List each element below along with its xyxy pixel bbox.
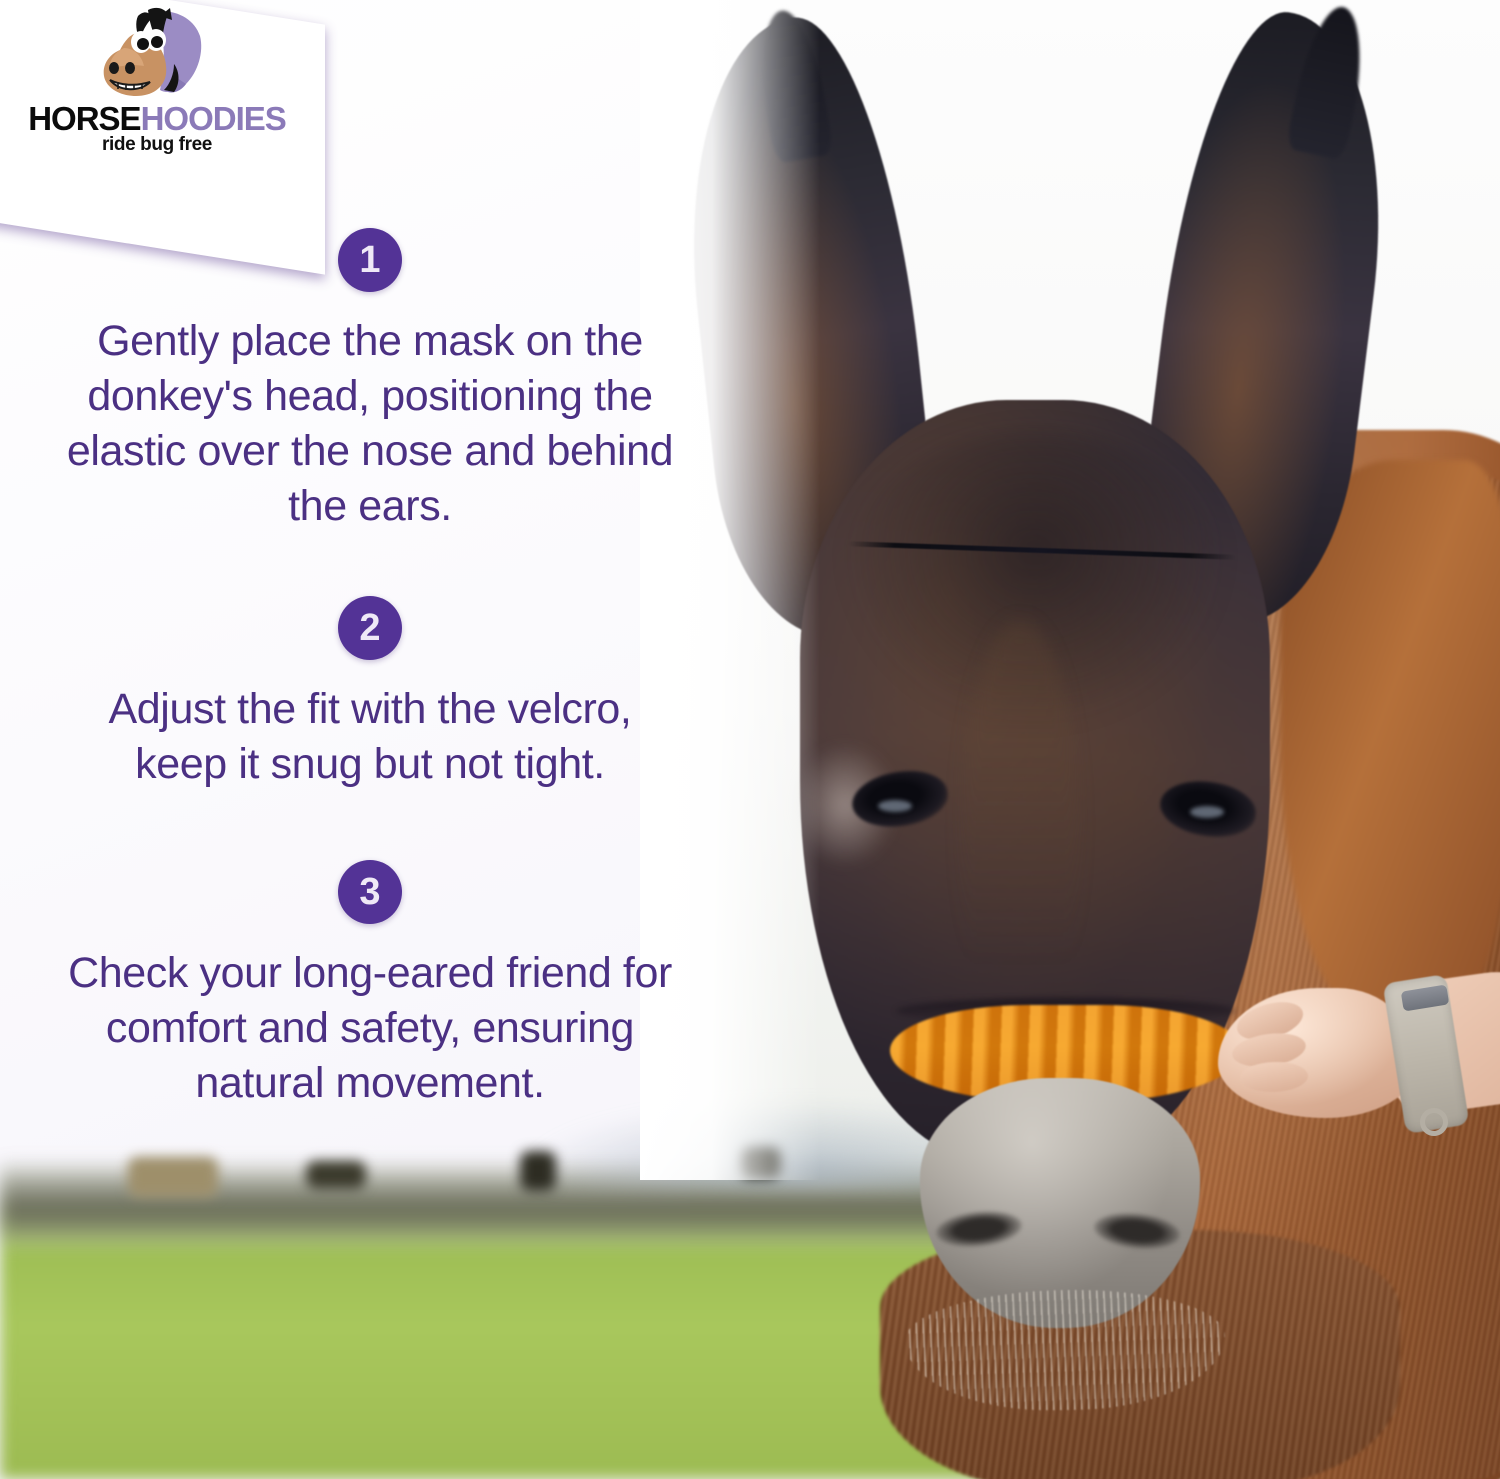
wordmark-horse: HORSE bbox=[28, 100, 140, 137]
step-item: 2 Adjust the fit with the velcro, keep i… bbox=[0, 596, 740, 792]
step-item: 1 Gently place the mask on the donkey's … bbox=[0, 228, 740, 534]
brand-tagline: ride bug free bbox=[14, 134, 300, 156]
step-number-badge: 3 bbox=[338, 860, 402, 924]
eye-highlight-left bbox=[878, 800, 912, 812]
step-number-badge: 1 bbox=[338, 228, 402, 292]
step-description: Gently place the mask on the donkey's he… bbox=[60, 314, 680, 534]
infographic-canvas: HORSEHOODIES ride bug free 1 Gently plac… bbox=[0, 0, 1500, 1479]
steps-list: 1 Gently place the mask on the donkey's … bbox=[0, 228, 740, 1111]
horse-head-hood-mascot-icon bbox=[90, 6, 210, 102]
nose-ridge bbox=[960, 620, 1080, 1060]
brand-wordmark: HORSEHOODIES bbox=[14, 102, 300, 135]
instructions-panel: HORSEHOODIES ride bug free 1 Gently plac… bbox=[0, 0, 740, 1220]
wordmark-hoodies: HOODIES bbox=[141, 100, 286, 137]
step-description: Check your long-eared friend for comfort… bbox=[60, 946, 680, 1111]
step-item: 3 Check your long-eared friend for comfo… bbox=[0, 860, 740, 1111]
step-number-badge: 2 bbox=[338, 596, 402, 660]
eye-highlight-right bbox=[1190, 806, 1224, 818]
brand-logo: HORSEHOODIES ride bug free bbox=[8, 2, 308, 172]
step-description: Adjust the fit with the velcro, keep it … bbox=[60, 682, 680, 792]
